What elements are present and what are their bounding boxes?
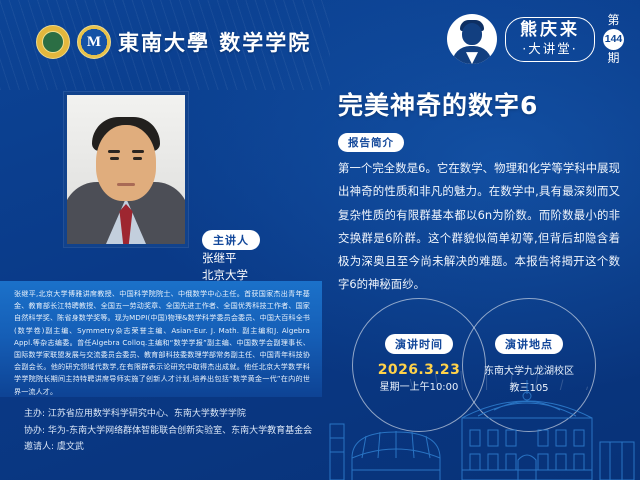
speaker-bio-text: 张继平,北京大学博雅讲席教授、中国科学院院士、中俄数学中心主任。首获国家杰出青年… — [14, 288, 310, 398]
speaker-badge: 主讲人 — [202, 230, 260, 250]
lecture-venue-line-1: 东南大学九龙湖校区 — [484, 365, 574, 380]
abstract-text: 第一个完全数是6。它在数学、物理和化学等学科中展现出神奇的性质和非凡的魅力。在数… — [338, 157, 620, 297]
xiong-qinglai-portrait-icon — [447, 14, 497, 64]
poster-footer: 主办: 江苏省应用数学科学研究中心、东南大学数学学院 协办: 华为-东南大学网络… — [24, 406, 312, 456]
abstract-badge: 报告简介 — [338, 133, 404, 152]
brand-line-2: ·大讲堂· — [520, 41, 580, 56]
brand-line-1: 熊庆来 — [520, 22, 580, 40]
math-school-logo-icon: M — [77, 25, 111, 59]
poster-root: M 東南大學 数学学院 熊庆来 ·大讲堂· 第 144 期 — [0, 0, 640, 480]
lecture-place-circle: 演讲地点 东南大学九龙湖校区 教三105 — [462, 298, 596, 432]
lecture-date: 2026.3.23 — [378, 361, 460, 379]
issue-indicator: 第 144 期 — [603, 14, 624, 64]
issue-suffix: 期 — [607, 52, 619, 65]
brand-pill: 熊庆来 ·大讲堂· — [505, 17, 595, 62]
time-badge: 演讲时间 — [385, 334, 453, 354]
speaker-name: 张继平 — [202, 250, 248, 267]
lecture-brand: 熊庆来 ·大讲堂· 第 144 期 — [447, 14, 624, 64]
footer-cohost: 协办: 华为-东南大学网络群体智能联合创新实验室、东南大学教育基金会 — [24, 423, 312, 440]
issue-prefix: 第 — [607, 14, 619, 27]
lecture-venue-line-2: 教三105 — [509, 382, 548, 397]
footer-inviter: 邀请人: 虞文武 — [24, 439, 312, 456]
speaker-bio-panel: 张继平,北京大学博雅讲席教授、中国科学院院士、中俄数学中心主任。首获国家杰出青年… — [0, 281, 322, 397]
speaker-photo-frame — [64, 92, 188, 247]
poster-header: M 東南大學 数学学院 熊庆来 ·大讲堂· 第 144 期 — [0, 0, 640, 78]
speaker-photo — [67, 95, 185, 244]
speaker-info: 张继平 北京大学 — [202, 250, 248, 283]
lecture-title: 完美神奇的数字6 — [338, 86, 538, 122]
footer-host: 主办: 江苏省应用数学科学研究中心、东南大学数学学院 — [24, 406, 312, 423]
university-name: 東南大學 数学学院 — [118, 27, 311, 57]
lecture-time-detail: 星期一上午10:00 — [380, 381, 459, 396]
logo-row: M 東南大學 数学学院 — [36, 25, 311, 59]
issue-number: 144 — [603, 29, 624, 50]
university-seal-icon — [36, 25, 70, 59]
place-badge: 演讲地点 — [495, 334, 563, 354]
